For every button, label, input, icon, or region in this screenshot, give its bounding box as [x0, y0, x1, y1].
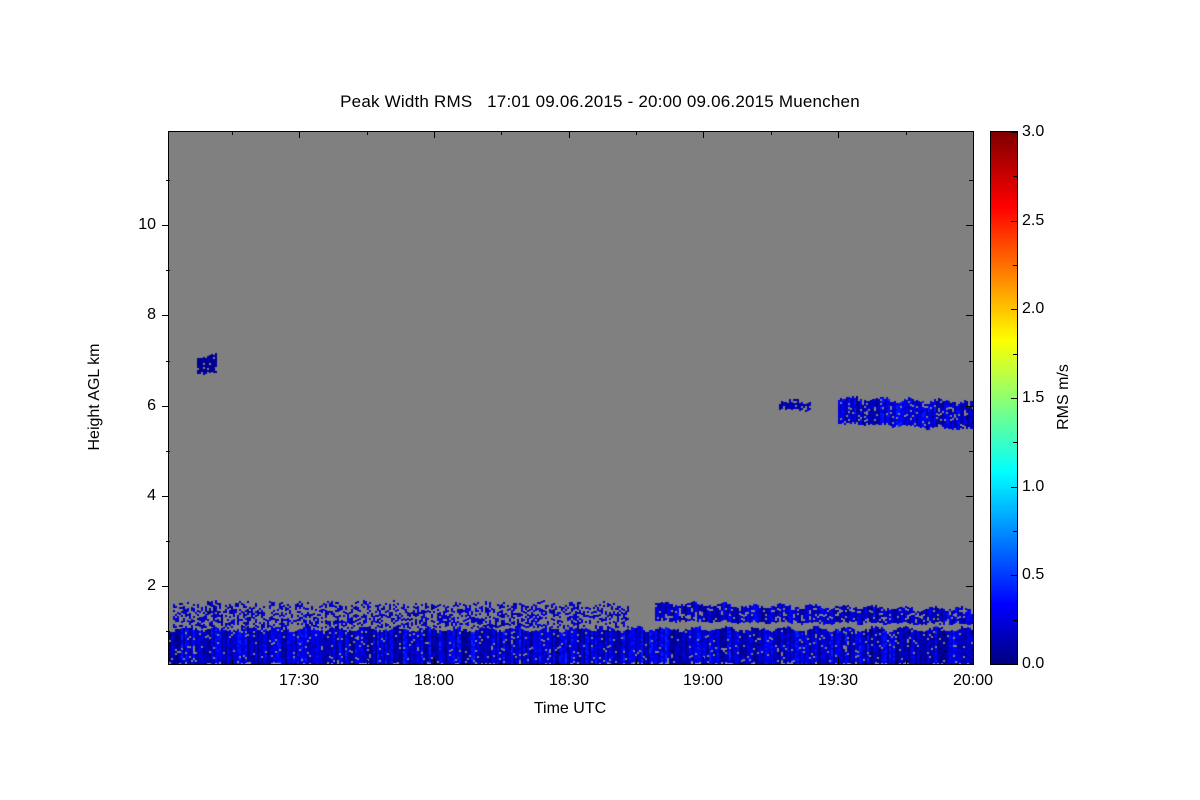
x-tick-minor — [771, 660, 772, 664]
colorbar-tick-major — [1011, 664, 1017, 665]
colorbar-tick-major — [1011, 132, 1017, 133]
colorbar-tick-major — [1011, 575, 1017, 576]
x-tick-label: 19:30 — [818, 672, 858, 690]
y-tick-minor — [166, 451, 170, 452]
colorbar-tick-minor — [1013, 265, 1017, 266]
colorbar-tick-minor — [1013, 176, 1017, 177]
y-tick-minor — [969, 541, 973, 542]
colorbar-tick-major — [1011, 487, 1017, 488]
y-tick-minor — [969, 270, 973, 271]
x-tick-minor — [232, 660, 233, 664]
y-tick-label: 8 — [147, 306, 156, 324]
x-tick-label: 18:30 — [549, 672, 589, 690]
y-tick-label: 2 — [147, 577, 156, 595]
x-tick-major — [434, 131, 435, 138]
x-tick-minor — [501, 660, 502, 664]
x-tick-minor — [636, 131, 637, 135]
y-tick-minor — [969, 180, 973, 181]
x-tick-major — [299, 131, 300, 138]
y-tick-major — [162, 586, 169, 587]
colorbar-tick-minor — [1013, 442, 1017, 443]
colorbar-title: RMS m/s — [1055, 364, 1073, 430]
x-tick-label: 19:00 — [683, 672, 723, 690]
x-tick-major — [973, 657, 974, 664]
y-tick-major — [966, 406, 973, 407]
y-tick-label: 4 — [147, 487, 156, 505]
x-tick-major — [838, 657, 839, 664]
y-tick-minor — [166, 361, 170, 362]
x-tick-major — [299, 657, 300, 664]
x-tick-minor — [636, 660, 637, 664]
colorbar-tick-minor — [1013, 620, 1017, 621]
x-tick-minor — [906, 660, 907, 664]
y-tick-major — [162, 406, 169, 407]
y-tick-label: 6 — [147, 397, 156, 415]
x-tick-label: 18:00 — [414, 672, 454, 690]
x-tick-minor — [232, 131, 233, 135]
y-tick-major — [966, 586, 973, 587]
colorbar-tick-label: 3.0 — [1022, 123, 1044, 141]
x-tick-minor — [501, 131, 502, 135]
y-tick-minor — [166, 541, 170, 542]
y-tick-minor — [166, 270, 170, 271]
plot-area[interactable] — [168, 131, 974, 665]
colorbar-tick-major — [1011, 309, 1017, 310]
y-tick-major — [966, 496, 973, 497]
colorbar-tick-label: 0.0 — [1022, 655, 1044, 673]
x-tick-minor — [771, 131, 772, 135]
colorbar-tick-label: 2.0 — [1022, 300, 1044, 318]
x-tick-major — [973, 131, 974, 138]
y-tick-major — [162, 225, 169, 226]
x-tick-major — [569, 131, 570, 138]
x-tick-major — [703, 657, 704, 664]
y-tick-label: 10 — [138, 216, 156, 234]
x-tick-major — [569, 657, 570, 664]
y-tick-major — [966, 225, 973, 226]
colorbar-tick-major — [1011, 398, 1017, 399]
x-tick-label: 17:30 — [279, 672, 319, 690]
x-tick-major — [838, 131, 839, 138]
page-title: Peak Width RMS 17:01 09.06.2015 - 20:00 … — [0, 92, 1200, 112]
x-tick-major — [703, 131, 704, 138]
x-axis-title: Time UTC — [534, 700, 606, 718]
y-tick-minor — [969, 451, 973, 452]
y-tick-major — [966, 315, 973, 316]
y-tick-minor — [166, 631, 170, 632]
heatmap-canvas[interactable] — [169, 132, 973, 664]
colorbar-tick-label: 2.5 — [1022, 212, 1044, 230]
y-tick-minor — [969, 361, 973, 362]
colorbar-tick-label: 1.5 — [1022, 389, 1044, 407]
colorbar-tick-label: 0.5 — [1022, 566, 1044, 584]
colorbar-tick-major — [1011, 221, 1017, 222]
x-tick-minor — [906, 131, 907, 135]
colorbar-tick-minor — [1013, 531, 1017, 532]
y-tick-minor — [969, 631, 973, 632]
lidar-rms-figure: Peak Width RMS 17:01 09.06.2015 - 20:00 … — [0, 0, 1200, 800]
y-tick-major — [162, 315, 169, 316]
y-tick-major — [162, 496, 169, 497]
y-tick-minor — [166, 180, 170, 181]
y-axis-title: Height AGL km — [86, 343, 104, 450]
x-tick-minor — [367, 660, 368, 664]
x-tick-label: 20:00 — [953, 672, 993, 690]
colorbar-tick-label: 1.0 — [1022, 478, 1044, 496]
x-tick-minor — [367, 131, 368, 135]
colorbar-tick-minor — [1013, 354, 1017, 355]
x-tick-major — [434, 657, 435, 664]
